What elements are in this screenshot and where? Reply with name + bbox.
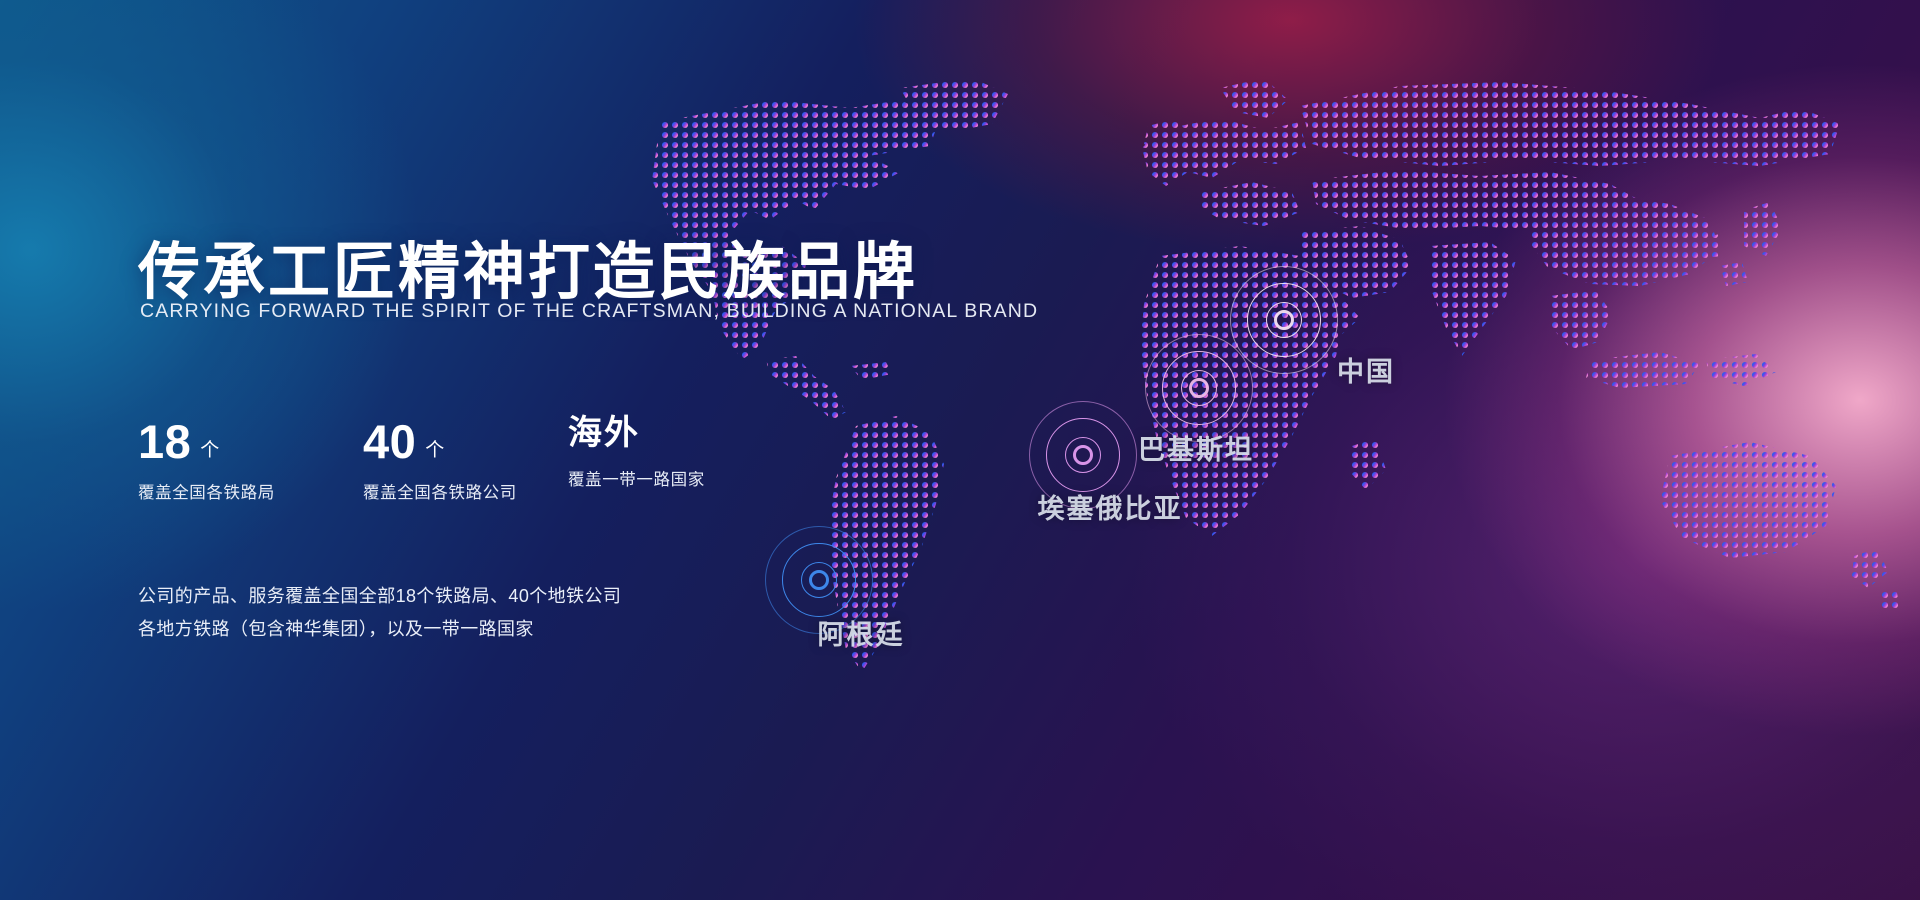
marker-ring-icon — [1189, 378, 1209, 398]
stat-label: 覆盖全国各铁路局 — [138, 479, 275, 503]
marker-ring-icon — [1181, 370, 1217, 406]
stat-label: 覆盖一带一路国家 — [568, 466, 705, 490]
world-dot-map — [600, 60, 1920, 760]
marker-ring-icon — [1162, 351, 1236, 425]
page-subtitle: CARRYING FORWARD THE SPIRIT OF THE CRAFT… — [140, 300, 1038, 323]
stat-number: 40 — [363, 418, 416, 465]
stat-label: 覆盖全国各铁路公司 — [363, 479, 517, 503]
marker-ring-icon — [809, 570, 829, 590]
marker-ring-icon — [1230, 266, 1338, 374]
marker-ring-icon — [1145, 334, 1253, 442]
marker-ring-icon — [801, 562, 837, 598]
description-text: 公司的产品、服务覆盖全国全部18个铁路局、40个地铁公司 各地方铁路（包含神华集… — [138, 580, 621, 646]
stat-item-3: 海外覆盖一带一路国家 — [568, 418, 705, 490]
description-line-1: 公司的产品、服务覆盖全国全部18个铁路局、40个地铁公司 — [138, 580, 621, 613]
marker-ring-icon — [782, 543, 856, 617]
marker-ring-icon — [1247, 283, 1321, 357]
marker-ring-icon — [1073, 445, 1093, 465]
marker-ring-icon — [1266, 302, 1302, 338]
description-line-2: 各地方铁路（包含神华集团），以及一带一路国家 — [138, 613, 621, 646]
stat-unit: 个 — [425, 435, 444, 462]
page-title: 传承工匠精神打造民族品牌 — [138, 242, 918, 304]
stat-item-1: 18个覆盖全国各铁路局 — [138, 418, 275, 503]
map-marker-label: 阿根廷 — [818, 613, 905, 652]
marker-ring-icon — [1046, 418, 1120, 492]
stat-number: 海外 — [568, 416, 640, 450]
stat-item-2: 40个覆盖全国各铁路公司 — [363, 418, 517, 503]
map-marker-label: 中国 — [1337, 350, 1395, 389]
map-marker-label: 巴基斯坦 — [1138, 428, 1254, 467]
marker-ring-icon — [1274, 310, 1294, 330]
hero-banner: 中国巴基斯坦埃塞俄比亚阿根廷 传承工匠精神打造民族品牌 CARRYING FOR… — [0, 0, 1920, 900]
marker-ring-icon — [1065, 437, 1101, 473]
stat-number: 18 — [138, 418, 191, 465]
stat-unit: 个 — [200, 435, 219, 462]
map-marker-label: 埃塞俄比亚 — [1038, 487, 1183, 526]
